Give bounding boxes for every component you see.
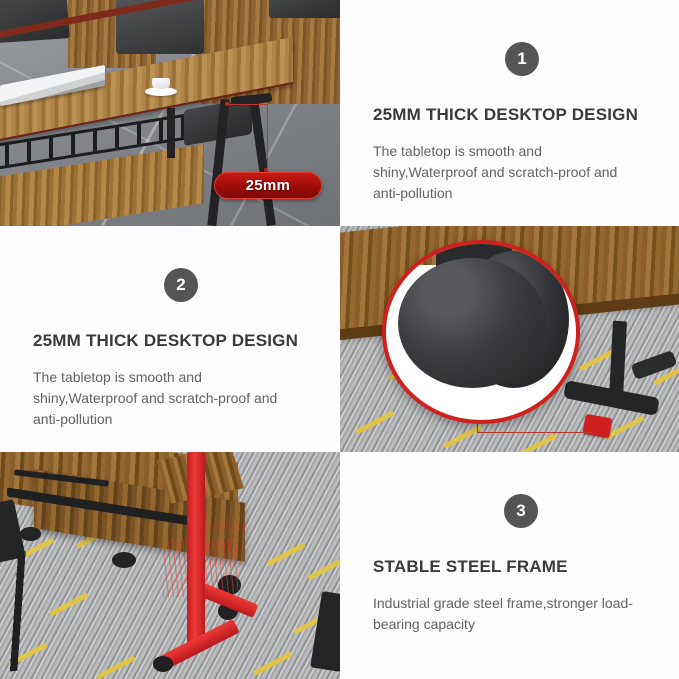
red-frame-post [187,452,205,647]
feature-text-panel-2: 2 25MM THICK DESKTOP DESIGN The tabletop… [0,226,340,452]
feature-body-1: The tabletop is smooth and shiny,Waterpr… [373,141,646,204]
caster-wheel [20,527,40,541]
feature-text-panel-3: 3 STABLE STEEL FRAME Industrial grade st… [340,452,679,679]
steel-frame-photo [0,452,340,679]
coffee-cup [152,78,170,89]
feature-grid: 25mm 1 25MM THICK DESKTOP DESIGN The tab… [0,0,679,679]
feature-body-3: Industrial grade steel frame,stronger lo… [373,593,646,635]
step-badge-2: 2 [164,268,198,302]
thickness-callout-line [228,104,268,173]
caster-closeup-photo [340,226,679,452]
feature-body-2: The tabletop is smooth and shiny,Waterpr… [33,367,307,430]
step-badge-1: 1 [505,42,539,76]
caster-wheel [112,552,136,568]
office-chair [269,0,340,18]
desk-leg [167,108,175,158]
feature-heading-3: STABLE STEEL FRAME [373,557,646,577]
conference-table-photo: 25mm [0,0,340,226]
caster-wheel-front [398,258,546,388]
magnifier-circle [382,240,580,424]
step-badge-3: 3 [504,494,538,528]
feature-text-panel-1: 1 25MM THICK DESKTOP DESIGN The tabletop… [340,0,679,226]
thickness-badge: 25mm [214,172,321,199]
feature-heading-2: 25MM THICK DESKTOP DESIGN [33,331,307,351]
feature-heading-1: 25MM THICK DESKTOP DESIGN [373,105,646,125]
